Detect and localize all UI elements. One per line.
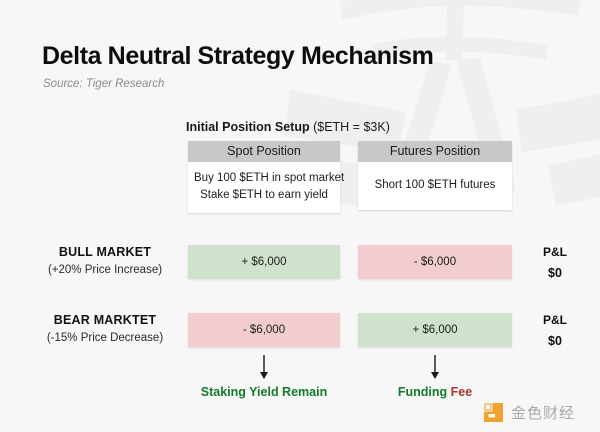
futures-position-card-header: Futures Position	[358, 141, 512, 162]
outcome-fee-word: Fee	[451, 385, 473, 399]
spot-position-card-header: Spot Position	[188, 141, 340, 162]
bull-market-title: BULL MARKET	[30, 245, 180, 259]
bear-spot-amount: - $6,000	[188, 313, 340, 347]
spot-position-card: Spot Position Buy 100 $ETH in spot marke…	[188, 141, 340, 213]
page-title: Delta Neutral Strategy Mechanism	[42, 42, 434, 71]
brand-logo: 金色财经	[483, 402, 575, 423]
bear-pnl-title: P&L	[518, 313, 592, 327]
brand-name: 金色财经	[511, 402, 575, 423]
arrow-down-icon	[428, 355, 442, 381]
bear-futures-amount: + $6,000	[358, 313, 512, 347]
bull-futures-amount: - $6,000	[358, 245, 512, 279]
background-watermark	[280, 0, 600, 270]
bull-pnl-title: P&L	[518, 245, 592, 259]
spot-position-card-body: Buy 100 $ETH in spot market Stake $ETH t…	[188, 162, 340, 213]
setup-label-light: ($ETH = $3K)	[310, 120, 390, 134]
bull-spot-amount: + $6,000	[188, 245, 340, 279]
outcome-funding-fee: Funding Fee	[350, 385, 520, 399]
outcome-staking-yield: Staking Yield Remain	[174, 385, 354, 399]
futures-position-card: Futures Position Short 100 $ETH futures	[358, 141, 512, 210]
bear-market-title: BEAR MARKTET	[30, 313, 180, 327]
source-attribution: Source: Tiger Research	[43, 78, 164, 90]
futures-position-card-body: Short 100 $ETH futures	[358, 162, 512, 210]
bear-market-subtitle: (-15% Price Decrease)	[30, 332, 180, 344]
bull-market-label: BULL MARKET (+20% Price Increase)	[30, 245, 180, 276]
futures-position-line-1: Short 100 $ETH futures	[364, 177, 506, 194]
bull-pnl-value: $0	[518, 266, 592, 280]
initial-position-setup-label: Initial Position Setup ($ETH = $3K)	[186, 120, 390, 134]
setup-label-strong: Initial Position Setup	[186, 120, 310, 134]
arrow-down-icon	[257, 355, 271, 381]
bull-market-subtitle: (+20% Price Increase)	[30, 264, 180, 276]
spot-position-line-2: Stake $ETH to earn yield	[194, 187, 334, 204]
jinse-mark-icon	[483, 402, 504, 423]
bear-market-label: BEAR MARKTET (-15% Price Decrease)	[30, 313, 180, 344]
outcome-funding-word: Funding	[398, 385, 451, 399]
bull-pnl: P&L $0	[518, 245, 592, 280]
bear-pnl-value: $0	[518, 334, 592, 348]
bear-pnl: P&L $0	[518, 313, 592, 348]
spot-position-line-1: Buy 100 $ETH in spot market	[194, 170, 334, 187]
